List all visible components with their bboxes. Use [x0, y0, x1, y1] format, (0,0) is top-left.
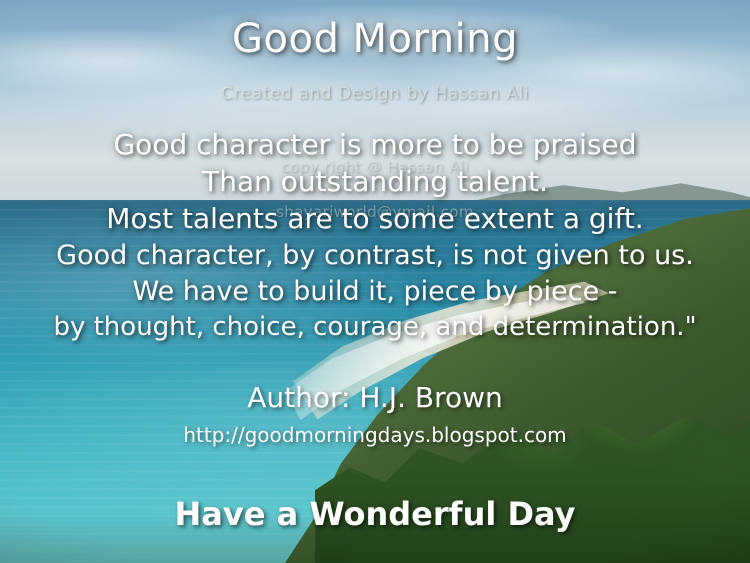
- greeting-title: Good Morning: [0, 16, 750, 62]
- quote-block: Good character is more to be praised Tha…: [0, 126, 750, 344]
- quote-line: Than outstanding talent.: [0, 163, 750, 200]
- closing-message: Have a Wonderful Day: [0, 495, 750, 533]
- quote-line: We have to build it, piece by piece -: [0, 274, 750, 310]
- blog-url[interactable]: http://goodmorningdays.blogspot.com: [0, 423, 750, 447]
- quote-author: Author: H.J. Brown: [0, 381, 750, 414]
- quote-line: by thought, choice, courage, and determi…: [0, 310, 750, 345]
- text-overlay: Good Morning Created and Design by Hassa…: [0, 0, 750, 563]
- quote-line: Most talents are to some extent a gift.: [0, 200, 750, 237]
- greeting-image-card: Good Morning Created and Design by Hassa…: [0, 0, 750, 563]
- quote-line: Good character is more to be praised: [0, 126, 750, 163]
- creator-credit: Created and Design by Hassan Ali: [0, 84, 750, 104]
- quote-line: Good character, by contrast, is not give…: [0, 238, 750, 274]
